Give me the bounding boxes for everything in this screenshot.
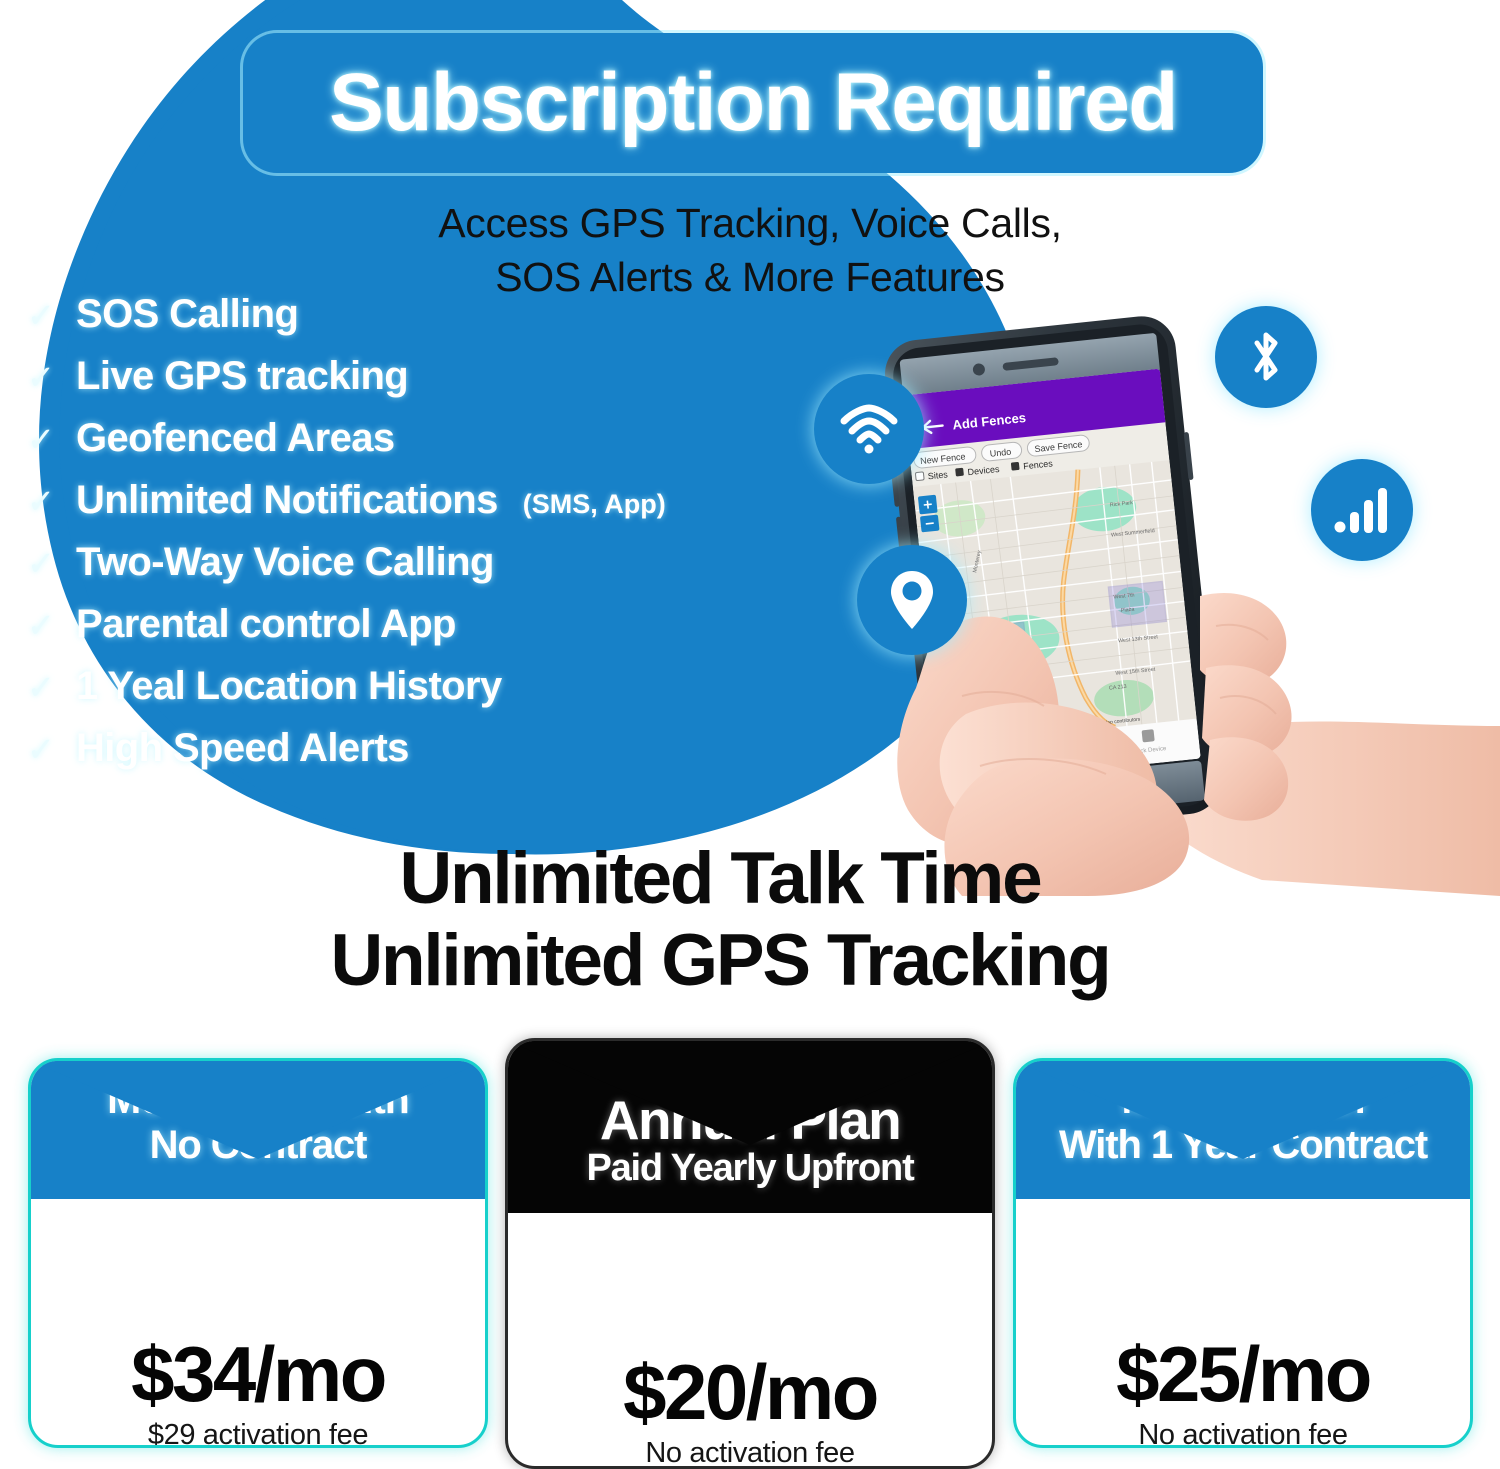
check-icon: ✓ bbox=[24, 671, 58, 705]
feature-label: 1 Yeal Location History bbox=[76, 664, 502, 709]
location-badge bbox=[857, 545, 967, 655]
signal-badge bbox=[1311, 459, 1413, 561]
plan-card-monthly-contract[interactable]: Monthly Plan With 1 Year Contract $25/mo… bbox=[1013, 1058, 1473, 1448]
feature-note: (SMS, App) bbox=[523, 489, 666, 520]
svg-text:Sites: Sites bbox=[927, 469, 948, 481]
feature-label: Parental control App bbox=[76, 602, 456, 647]
plan-card-annual[interactable]: ★ Annual Plan Paid Yearly Upfront $20/mo… bbox=[505, 1038, 995, 1469]
plan-price: $34/mo bbox=[31, 1329, 485, 1420]
feature-list: ✓ SOS Calling ✓ Live GPS tracking ✓ Geof… bbox=[24, 292, 824, 788]
feature-label: Geofenced Areas bbox=[76, 416, 395, 461]
feature-label: SOS Calling bbox=[76, 292, 298, 337]
wifi-badge bbox=[814, 374, 924, 484]
feature-label: High Speed Alerts bbox=[76, 726, 409, 771]
plan-activation-fee: No activation fee bbox=[508, 1437, 992, 1469]
infographic-stage: Subscription Required Access GPS Trackin… bbox=[0, 0, 1500, 1469]
headline-line-1: Unlimited Talk Time bbox=[399, 838, 1040, 919]
check-icon: ✓ bbox=[24, 547, 58, 581]
bluetooth-icon bbox=[1244, 326, 1288, 388]
check-icon: ✓ bbox=[24, 299, 58, 333]
feature-label: Unlimited Notifications bbox=[76, 478, 498, 523]
check-icon: ✓ bbox=[24, 485, 58, 519]
check-icon: ✓ bbox=[24, 609, 58, 643]
signal-bars-icon bbox=[1334, 487, 1390, 533]
feature-item: ✓ Parental control App bbox=[24, 602, 824, 664]
check-icon: ✓ bbox=[24, 361, 58, 395]
subtitle: Access GPS Tracking, Voice Calls, SOS Al… bbox=[330, 196, 1170, 304]
map-pin-icon bbox=[887, 568, 937, 632]
plan-activation-fee: $29 activation fee bbox=[31, 1419, 485, 1448]
pricing-plans: Month To Month No Contract $34/mo $29 ac… bbox=[0, 1020, 1500, 1469]
plan-card-month-to-month[interactable]: Month To Month No Contract $34/mo $29 ac… bbox=[28, 1058, 488, 1448]
check-icon: ✓ bbox=[24, 423, 58, 457]
plan-price: $25/mo bbox=[1016, 1329, 1470, 1420]
page-title-badge: Subscription Required bbox=[243, 33, 1263, 173]
feature-item: ✓ Geofenced Areas bbox=[24, 416, 824, 478]
page-title: Subscription Required bbox=[329, 56, 1177, 150]
bluetooth-badge bbox=[1215, 306, 1317, 408]
headline-line-2: Unlimited GPS Tracking bbox=[150, 920, 1290, 1002]
feature-item: ✓ Unlimited Notifications (SMS, App) bbox=[24, 478, 824, 540]
feature-item: ✓ 1 Yeal Location History bbox=[24, 664, 824, 726]
feature-item: ✓ High Speed Alerts bbox=[24, 726, 824, 788]
plan-subtitle: Paid Yearly Upfront bbox=[508, 1148, 992, 1190]
feature-item: ✓ SOS Calling bbox=[24, 292, 824, 354]
feature-item: ✓ Two-Way Voice Calling bbox=[24, 540, 824, 602]
feature-item: ✓ Live GPS tracking bbox=[24, 354, 824, 416]
headline: Unlimited Talk Time Unlimited GPS Tracki… bbox=[150, 838, 1290, 1003]
wifi-icon bbox=[838, 404, 900, 454]
feature-label: Two-Way Voice Calling bbox=[76, 540, 494, 585]
subtitle-line-1: Access GPS Tracking, Voice Calls, bbox=[438, 200, 1062, 246]
check-icon: ✓ bbox=[24, 733, 58, 767]
plan-price: $20/mo bbox=[508, 1347, 992, 1438]
plan-activation-fee: No activation fee bbox=[1016, 1419, 1470, 1448]
feature-label: Live GPS tracking bbox=[76, 354, 408, 399]
